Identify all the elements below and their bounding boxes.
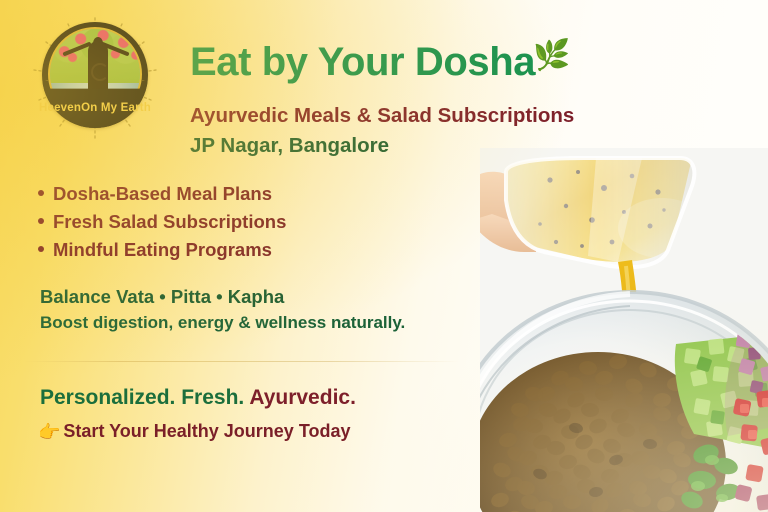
logo-ribbon-text: HeevenOn My Earth: [26, 102, 164, 114]
list-item: Fresh Salad Subscriptions: [38, 208, 286, 236]
bullet-dot-icon: [38, 246, 44, 252]
list-item-label: Fresh Salad Subscriptions: [53, 211, 286, 232]
brand-tagline: Personalized. Fresh. Ayurvedic.: [40, 386, 356, 410]
dosha-balance-line: Balance Vata • Pitta • Kapha: [40, 286, 284, 308]
services-list: Dosha-Based Meal Plans Fresh Salad Subsc…: [38, 180, 286, 264]
page-title: Eat by Your Dosha🌿: [190, 38, 570, 85]
poster-canvas: HeevenOn My Earth Eat by Your Dosha🌿 Ayu…: [0, 0, 768, 512]
cta-button[interactable]: 👉Start Your Healthy Journey Today: [38, 421, 351, 443]
goddess-head-icon: [93, 37, 103, 50]
wellness-benefit-line: Boost digestion, energy & wellness natur…: [40, 313, 405, 333]
pointing-hand-icon: 👉: [38, 422, 60, 442]
leaf-icon: 🌿: [533, 39, 570, 72]
page-subtitle: Ayurvedic Meals & Salad Subscriptions: [190, 104, 574, 128]
list-item-label: Mindful Eating Programs: [53, 239, 272, 260]
page-title-text: Eat by Your Dosha: [190, 40, 535, 84]
spiral-icon: [91, 63, 109, 81]
brand-logo[interactable]: HeevenOn My Earth: [26, 16, 164, 140]
list-item: Mindful Eating Programs: [38, 236, 286, 264]
list-item-label: Dosha-Based Meal Plans: [53, 183, 272, 204]
cta-label: Start Your Healthy Journey Today: [63, 421, 350, 441]
section-divider: [24, 361, 460, 362]
salad-illustration: [480, 148, 768, 512]
bullet-dot-icon: [38, 218, 44, 224]
lentil-salad-photo: [480, 148, 768, 512]
tagline-maroon-part: Ayurvedic.: [249, 386, 356, 409]
tagline-green-part: Personalized. Fresh.: [40, 386, 244, 409]
list-item: Dosha-Based Meal Plans: [38, 180, 286, 208]
page-location: JP Nagar, Bangalore: [190, 134, 389, 158]
bullet-dot-icon: [38, 190, 44, 196]
